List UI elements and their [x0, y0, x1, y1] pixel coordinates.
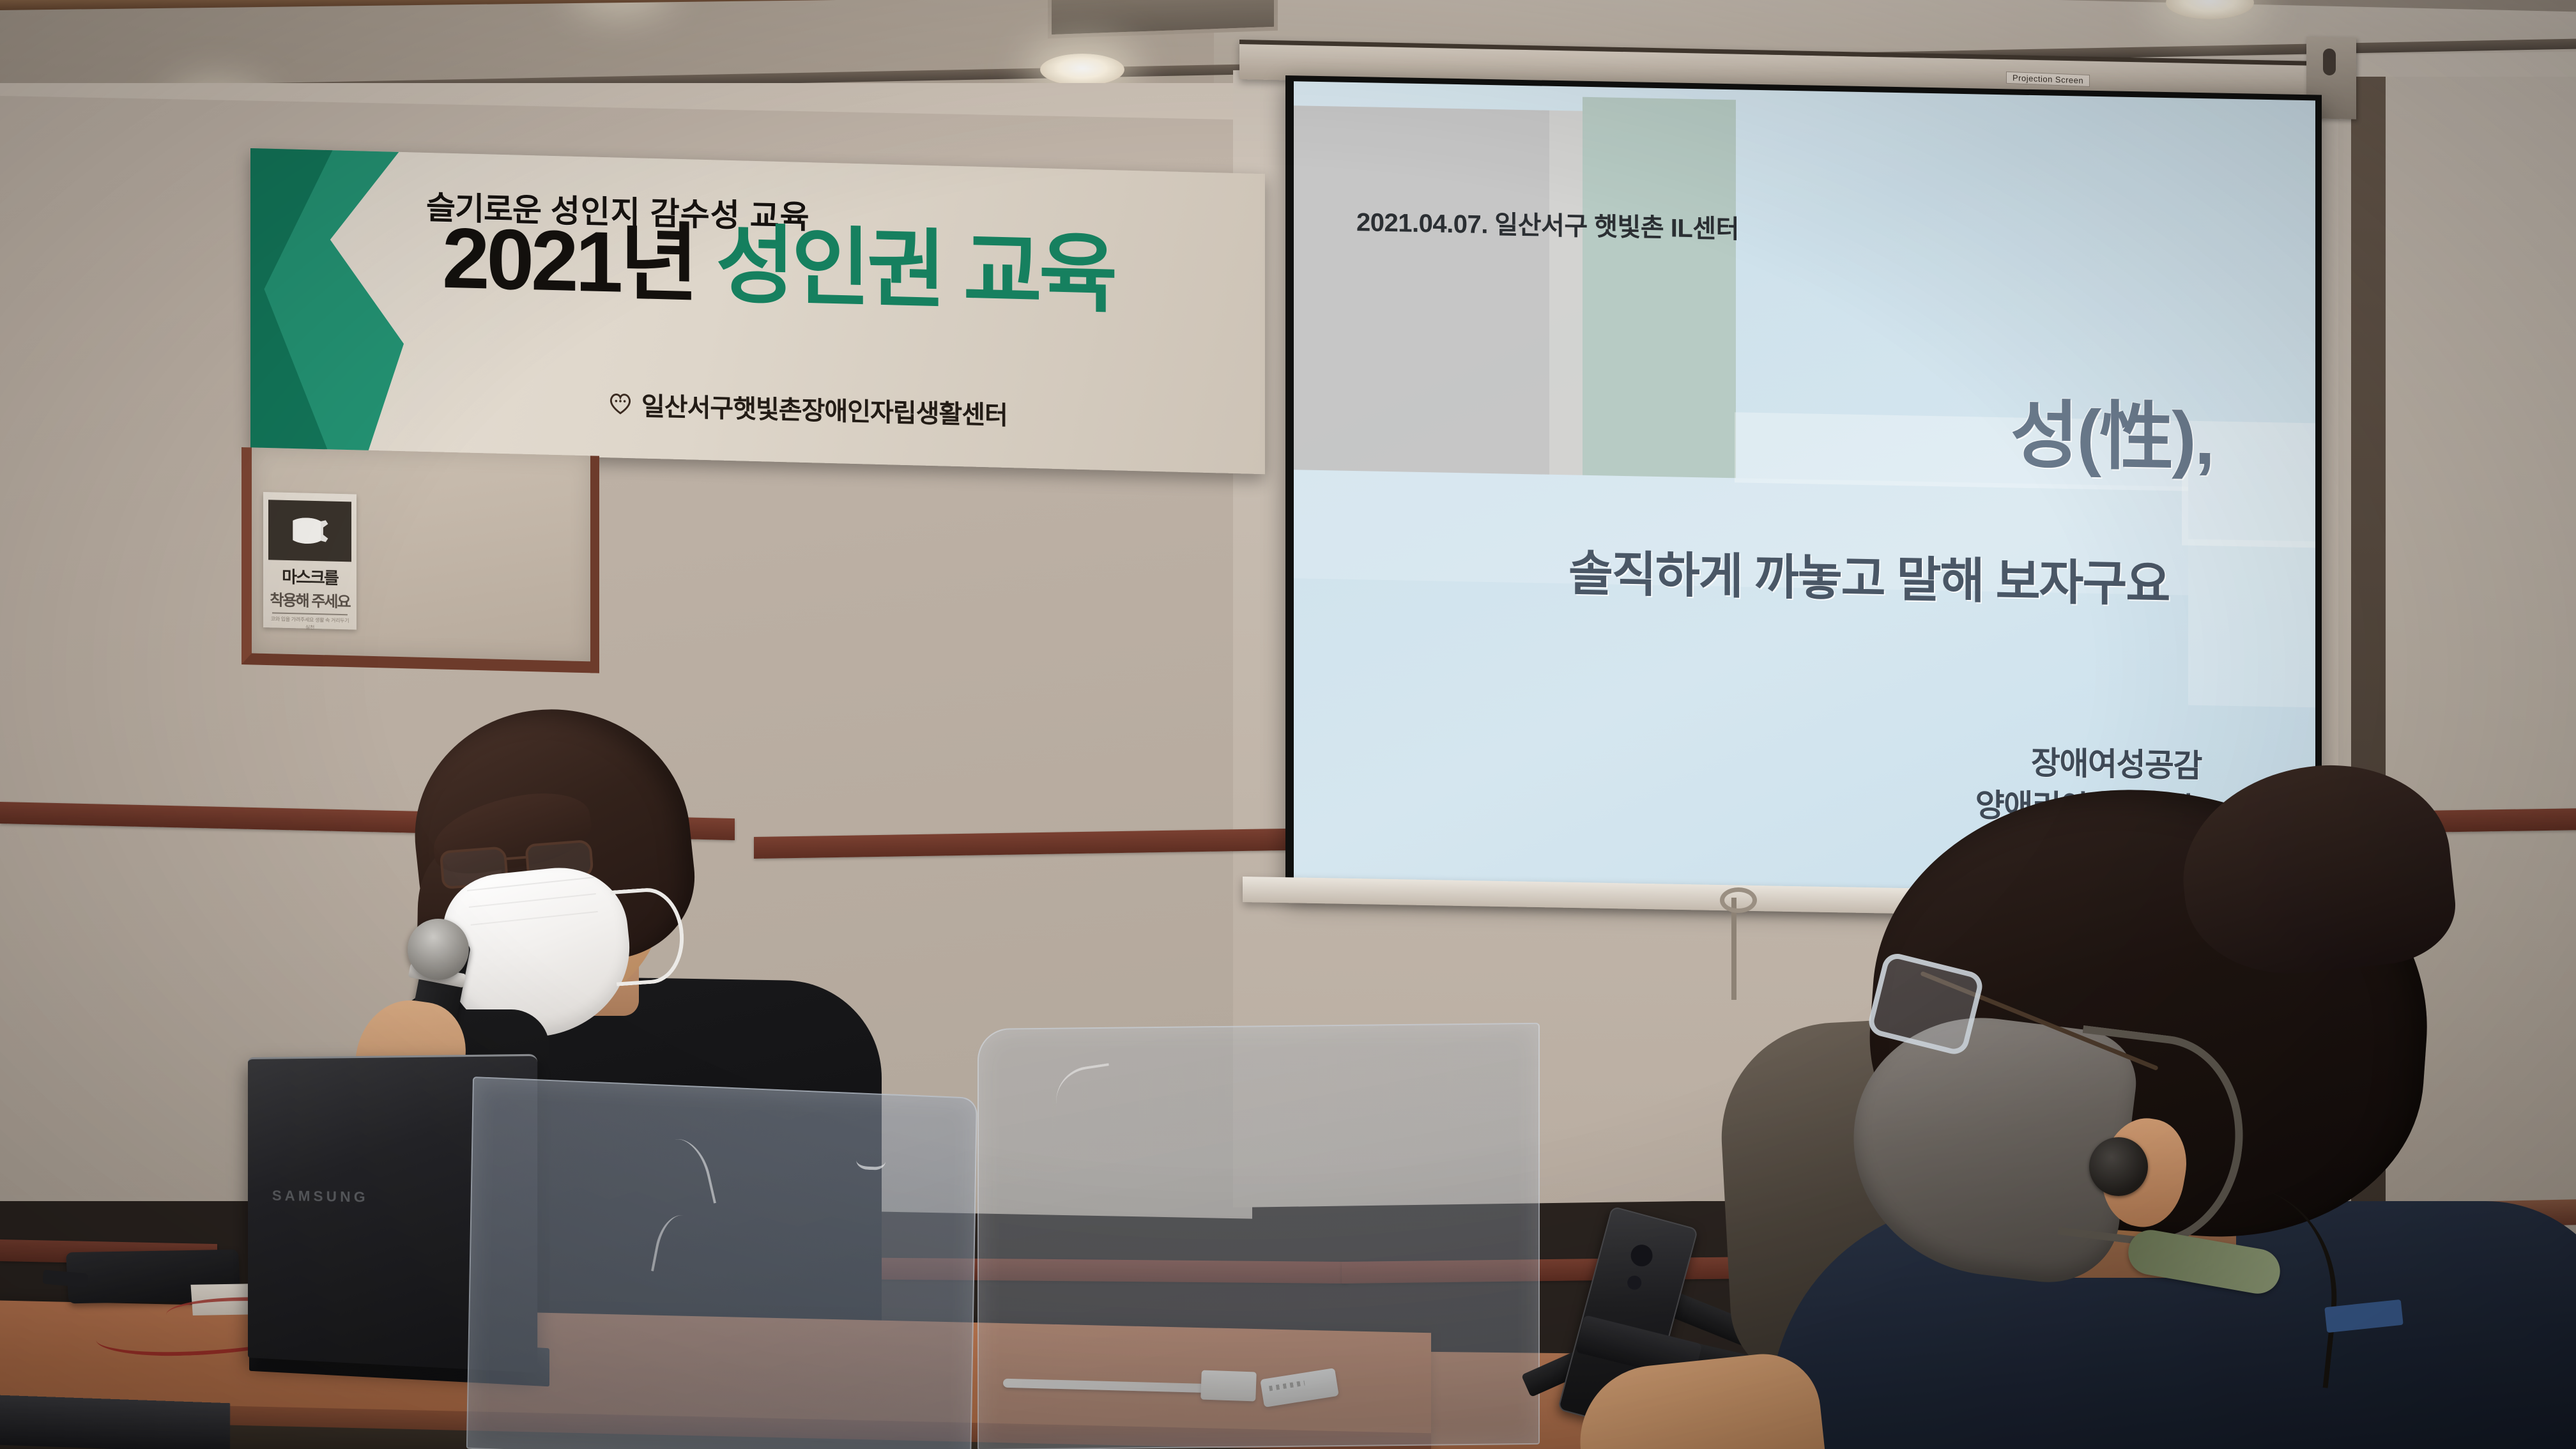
partition-scratch-1: [657, 1134, 716, 1212]
mask-sign-fineprint: 코와 입을 가려주세요 생활 속 거리두기 실천: [268, 615, 351, 632]
mask-sign-line1: 마스크를: [268, 563, 351, 589]
mask-sign-line2: 착용해 주세요: [268, 587, 351, 611]
presentation-slide: 2021.04.07. 일산서구 햇빛촌 IL센터 성(性), 솔직하게 까놓고…: [1294, 81, 2315, 907]
laptop-keyboard: [0, 1395, 230, 1449]
slide-date-venue: 2021.04.07. 일산서구 햇빛촌 IL센터: [1356, 201, 1739, 245]
screen-pull-cord: [1731, 898, 1736, 1000]
projection-screen: 2021.04.07. 일산서구 햇빛촌 IL센터 성(性), 솔직하게 까놓고…: [1285, 75, 2322, 914]
attendee-glasses-lens: [1866, 951, 1985, 1057]
slide-block-light: [1549, 111, 1583, 475]
event-banner: 슬기로운 성인지 감수성 교육 2021년 성인권 교육 일산서구햇빛촌장애인자…: [250, 148, 1265, 474]
photo-scene: 슬기로운 성인지 감수성 교육 2021년 성인권 교육 일산서구햇빛촌장애인자…: [0, 0, 2576, 1449]
acrylic-partition-right: [977, 1023, 1540, 1449]
slide-block-gray: [1294, 105, 1549, 475]
banner-title-year: 2021년: [442, 211, 695, 312]
partition-mark-a: [856, 1146, 886, 1170]
banner-organization-label: 일산서구햇빛촌장애인자립생활센터: [641, 385, 1008, 431]
partition-scratch-2: [651, 1211, 698, 1278]
slide-band-lower-right: [2188, 539, 2315, 708]
slide-subtitle: 솔직하게 까놓고 말해 보자구요: [1568, 533, 2169, 615]
downlight-icon-2: [1040, 54, 1124, 86]
glasses-bridge: [507, 856, 527, 860]
laptop-brand-label: SAMSUNG: [272, 1188, 369, 1206]
projection-screen-brand-label: Projection Screen: [2006, 72, 2090, 87]
slide-title: 성(性),: [2011, 374, 2213, 486]
earbud-icon: [2089, 1137, 2148, 1196]
slide-block-sage: [1583, 97, 1736, 479]
face-mask-icon: [268, 500, 351, 562]
banner-organization: 일산서구햇빛촌장애인자립생활센터: [608, 385, 1008, 432]
partition-scratch-3: [1052, 1063, 1117, 1128]
banner-title: 2021년 성인권 교육: [442, 216, 1114, 319]
mask-sign-divider: [272, 612, 348, 615]
acrylic-partition-left: [466, 1077, 977, 1449]
heart-icon: [608, 392, 632, 415]
mask-notice-sign: 마스크를 착용해 주세요 코와 입을 가려주세요 생활 속 거리두기 실천: [263, 492, 356, 630]
banner-title-topic: 성인권 교육: [695, 217, 1114, 323]
slide-presenter-org: 장애여성공감: [1975, 740, 2202, 788]
